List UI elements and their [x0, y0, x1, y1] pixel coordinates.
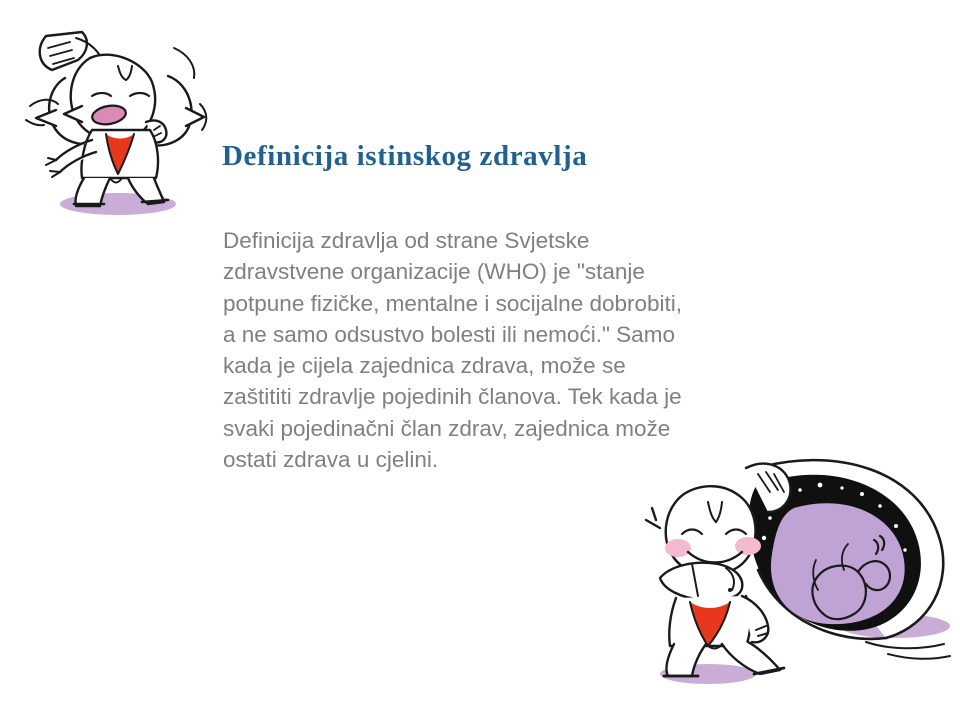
slide-title: Definicija istinskog zdravlja	[222, 140, 842, 173]
slide-body-text: Definicija zdravlja od strane Svjetske z…	[223, 225, 693, 475]
presentation-slide: Definicija istinskog zdravlja Definicija…	[0, 0, 960, 720]
cartoon-child-with-purple-orb-illustration	[630, 430, 960, 700]
cartoon-child-shaking-head-illustration	[18, 18, 218, 228]
